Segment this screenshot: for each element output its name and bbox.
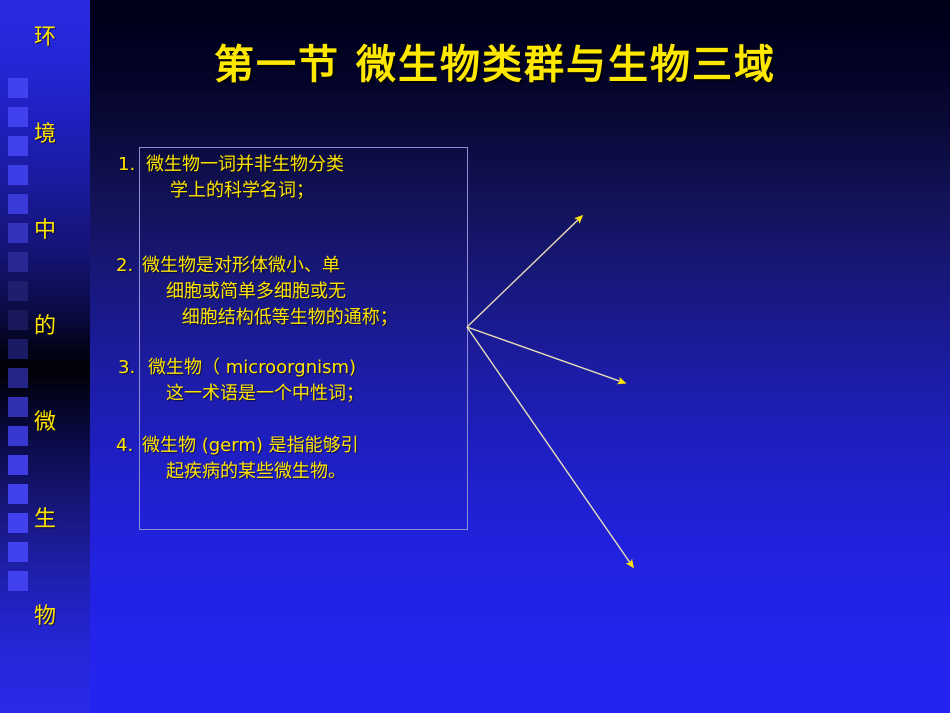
sidebar-char-3: 中 bbox=[0, 220, 90, 242]
slide-canvas: 环 境 中 的 微 生 物 第一节 微生物类群与生物三域 微生物一词并非生物分类… bbox=[0, 0, 950, 713]
sidebar-char-2: 境 bbox=[0, 124, 90, 146]
list-item-2-line-1: 微生物是对形体微小、单 bbox=[142, 253, 340, 279]
arrow-middle-right bbox=[467, 327, 625, 383]
sidebar-square bbox=[8, 252, 28, 272]
list-item-4-number: 4. bbox=[116, 433, 133, 459]
sidebar-char-7: 物 bbox=[0, 606, 90, 628]
sidebar-square bbox=[8, 339, 28, 359]
list-item-1-line-1: 微生物一词并非生物分类 bbox=[146, 152, 344, 178]
sidebar-square bbox=[8, 78, 28, 98]
arrow-lower-right bbox=[467, 327, 633, 567]
list-item-2-number: 2. bbox=[116, 253, 133, 279]
list-item-2-line-3: 细胞结构低等生物的通称； bbox=[176, 305, 398, 331]
sidebar-char-5: 微 bbox=[0, 412, 90, 434]
sidebar-square bbox=[8, 194, 28, 214]
sidebar-square bbox=[8, 571, 28, 591]
list-item-1-number: 1. bbox=[118, 152, 135, 178]
sidebar-char-4: 的 bbox=[0, 316, 90, 338]
sidebar-square bbox=[8, 484, 28, 504]
arrow-upper-right bbox=[467, 216, 582, 327]
list-item-3-number: 3. bbox=[118, 355, 135, 381]
list-item-2-line-2: 细胞或简单多细胞或无 bbox=[166, 279, 346, 305]
sidebar-char-1: 环 bbox=[0, 27, 90, 49]
sidebar-square bbox=[8, 281, 28, 301]
list-item-4-line-2: 起疾病的某些微生物。 bbox=[166, 459, 346, 485]
sidebar-square bbox=[8, 368, 28, 388]
list-item-4-line-1: 微生物 (germ) 是指能够引 bbox=[142, 433, 359, 459]
sidebar-square bbox=[8, 165, 28, 185]
sidebar-char-6: 生 bbox=[0, 509, 90, 531]
list-item-1-line-2: 学上的科学名词； bbox=[170, 178, 314, 204]
slide-title: 第一节 微生物类群与生物三域 bbox=[95, 40, 895, 90]
sidebar-square bbox=[8, 542, 28, 562]
list-item-3-line-2: 这一术语是一个中性词； bbox=[166, 381, 364, 407]
list-item-3-line-1: 微生物（ microorgnism) bbox=[148, 355, 356, 381]
sidebar: 环 境 中 的 微 生 物 bbox=[0, 0, 90, 713]
sidebar-square bbox=[8, 455, 28, 475]
